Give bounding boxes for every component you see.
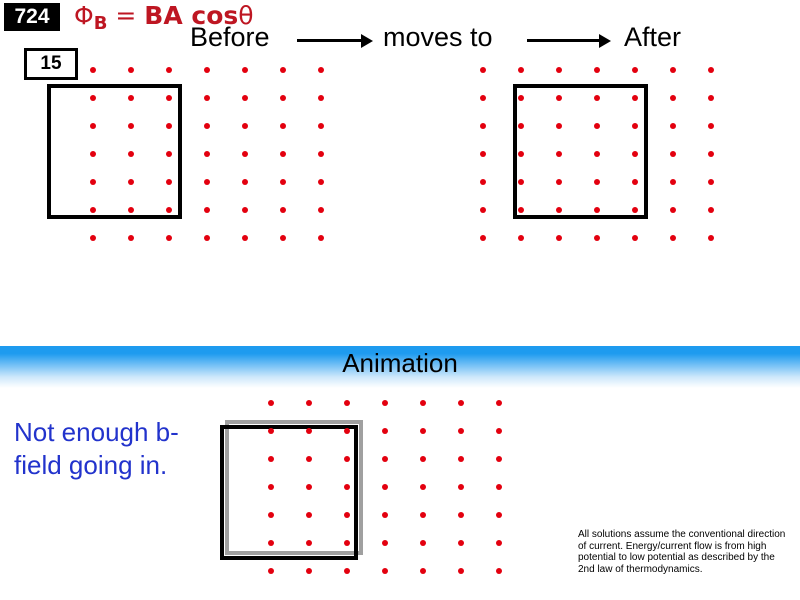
field-dot xyxy=(242,67,248,73)
field-dot xyxy=(90,151,96,157)
field-dot xyxy=(344,428,350,434)
field-dot xyxy=(420,484,426,490)
field-dot xyxy=(496,568,502,574)
field-dot xyxy=(708,151,714,157)
field-dot xyxy=(204,179,210,185)
field-dot xyxy=(420,428,426,434)
field-dot xyxy=(420,400,426,406)
field-dot xyxy=(318,179,324,185)
animation-title: Animation xyxy=(0,348,800,379)
field-dot xyxy=(594,151,600,157)
field-dot xyxy=(670,235,676,241)
field-dot xyxy=(458,400,464,406)
field-dot xyxy=(420,456,426,462)
field-dot xyxy=(632,151,638,157)
arrow-shaft xyxy=(527,39,601,42)
field-dot xyxy=(382,568,388,574)
field-dot xyxy=(518,179,524,185)
field-dot xyxy=(242,151,248,157)
field-dot xyxy=(268,400,274,406)
field-dot xyxy=(632,123,638,129)
note-not-enough-bfield: Not enough b-field going in. xyxy=(14,416,199,482)
field-dot xyxy=(594,67,600,73)
field-dot xyxy=(166,95,172,101)
field-dot xyxy=(166,67,172,73)
field-dot xyxy=(670,207,676,213)
field-dot xyxy=(306,484,312,490)
field-dot xyxy=(670,123,676,129)
field-dot xyxy=(268,512,274,518)
field-dot xyxy=(708,67,714,73)
field-dot xyxy=(166,235,172,241)
right-arrow-icon-2 xyxy=(527,31,613,49)
disclaimer-text: All solutions assume the conventional di… xyxy=(578,529,790,575)
field-dot xyxy=(480,95,486,101)
field-dot xyxy=(344,456,350,462)
field-dot xyxy=(268,484,274,490)
field-dot xyxy=(204,207,210,213)
field-dot xyxy=(480,123,486,129)
magnetic-field-dots-animation xyxy=(268,400,508,580)
slide-number-box: 15 xyxy=(24,48,78,80)
field-dot xyxy=(594,95,600,101)
field-dot xyxy=(594,235,600,241)
conducting-loop-after xyxy=(513,84,648,219)
field-dot xyxy=(632,207,638,213)
field-dot xyxy=(90,207,96,213)
field-dot xyxy=(268,428,274,434)
field-dot xyxy=(458,512,464,518)
field-dot xyxy=(480,235,486,241)
field-dot xyxy=(128,235,134,241)
field-dot xyxy=(556,235,562,241)
field-dot xyxy=(480,151,486,157)
field-dot xyxy=(242,179,248,185)
field-dot xyxy=(518,95,524,101)
field-dot xyxy=(496,484,502,490)
field-dot xyxy=(382,428,388,434)
field-dot xyxy=(458,428,464,434)
field-dot xyxy=(708,95,714,101)
field-dot xyxy=(458,456,464,462)
field-dot xyxy=(556,207,562,213)
field-dot xyxy=(280,95,286,101)
field-dot xyxy=(242,235,248,241)
page-number-badge: 724 xyxy=(4,3,60,31)
field-dot xyxy=(280,179,286,185)
field-dot xyxy=(344,512,350,518)
field-dot xyxy=(204,95,210,101)
field-dot xyxy=(242,207,248,213)
moves-to-label: moves to xyxy=(383,22,493,53)
field-dot xyxy=(556,123,562,129)
field-dot xyxy=(458,484,464,490)
field-dot xyxy=(166,207,172,213)
field-dot xyxy=(280,235,286,241)
field-dot xyxy=(344,540,350,546)
field-dot xyxy=(268,456,274,462)
before-label: Before xyxy=(190,22,270,53)
conducting-loop-before xyxy=(47,84,182,219)
field-dot xyxy=(344,400,350,406)
field-dot xyxy=(382,484,388,490)
field-dot xyxy=(242,123,248,129)
field-dot xyxy=(344,568,350,574)
phi-symbol: Φ xyxy=(74,1,94,30)
field-dot xyxy=(306,512,312,518)
field-dot xyxy=(496,400,502,406)
field-dot xyxy=(518,151,524,157)
field-dot xyxy=(556,95,562,101)
field-dot xyxy=(382,512,388,518)
field-dot xyxy=(632,235,638,241)
arrow-shaft xyxy=(297,39,363,42)
field-dot xyxy=(318,151,324,157)
conducting-loop-animation xyxy=(220,425,358,560)
field-dot xyxy=(556,151,562,157)
field-dot xyxy=(480,179,486,185)
field-dot xyxy=(420,512,426,518)
field-dot xyxy=(420,540,426,546)
field-dot xyxy=(708,235,714,241)
magnetic-field-dots-before xyxy=(90,67,330,247)
field-dot xyxy=(458,568,464,574)
field-dot xyxy=(458,540,464,546)
field-dot xyxy=(90,95,96,101)
field-dot xyxy=(318,207,324,213)
field-dot xyxy=(306,400,312,406)
field-dot xyxy=(204,151,210,157)
field-dot xyxy=(556,67,562,73)
field-dot xyxy=(708,123,714,129)
field-dot xyxy=(166,179,172,185)
field-dot xyxy=(594,179,600,185)
field-dot xyxy=(556,179,562,185)
field-dot xyxy=(318,123,324,129)
field-dot xyxy=(204,235,210,241)
field-dot xyxy=(496,512,502,518)
after-label: After xyxy=(624,22,681,53)
equals-sign: = xyxy=(115,1,136,30)
field-dot xyxy=(670,95,676,101)
field-dot xyxy=(306,540,312,546)
field-dot xyxy=(480,67,486,73)
field-dot xyxy=(128,95,134,101)
field-dot xyxy=(632,67,638,73)
field-dot xyxy=(594,207,600,213)
field-dot xyxy=(90,179,96,185)
phi-subscript-b: B xyxy=(94,13,108,34)
field-dot xyxy=(518,67,524,73)
field-dot xyxy=(306,568,312,574)
field-dot xyxy=(632,179,638,185)
field-dot xyxy=(670,67,676,73)
field-dot xyxy=(518,123,524,129)
field-dot xyxy=(90,235,96,241)
field-dot xyxy=(128,151,134,157)
field-dot xyxy=(128,67,134,73)
field-dot xyxy=(518,207,524,213)
field-dot xyxy=(90,123,96,129)
field-dot xyxy=(128,123,134,129)
field-dot xyxy=(708,207,714,213)
field-dot xyxy=(318,235,324,241)
arrow-head xyxy=(599,34,611,48)
field-dot xyxy=(344,484,350,490)
field-dot xyxy=(280,151,286,157)
field-dot xyxy=(420,568,426,574)
field-dot xyxy=(594,123,600,129)
field-dot xyxy=(496,540,502,546)
field-dot xyxy=(280,207,286,213)
field-dot xyxy=(496,428,502,434)
magnetic-field-dots-after xyxy=(480,67,720,247)
field-dot xyxy=(128,179,134,185)
field-dot xyxy=(632,95,638,101)
field-dot xyxy=(204,67,210,73)
field-dot xyxy=(280,67,286,73)
field-dot xyxy=(382,540,388,546)
field-dot xyxy=(280,123,286,129)
field-dot xyxy=(496,456,502,462)
field-dot xyxy=(518,235,524,241)
field-dot xyxy=(204,123,210,129)
field-dot xyxy=(306,456,312,462)
field-dot xyxy=(268,540,274,546)
field-dot xyxy=(242,95,248,101)
field-dot xyxy=(708,179,714,185)
field-dot xyxy=(166,123,172,129)
field-dot xyxy=(318,67,324,73)
field-dot xyxy=(318,95,324,101)
field-dot xyxy=(670,151,676,157)
arrow-head xyxy=(361,34,373,48)
right-arrow-icon-1 xyxy=(297,31,375,49)
field-dot xyxy=(128,207,134,213)
field-dot xyxy=(268,568,274,574)
field-dot xyxy=(306,428,312,434)
field-dot xyxy=(382,456,388,462)
field-dot xyxy=(166,151,172,157)
field-dot xyxy=(670,179,676,185)
field-dot xyxy=(480,207,486,213)
field-dot xyxy=(382,400,388,406)
field-dot xyxy=(90,67,96,73)
